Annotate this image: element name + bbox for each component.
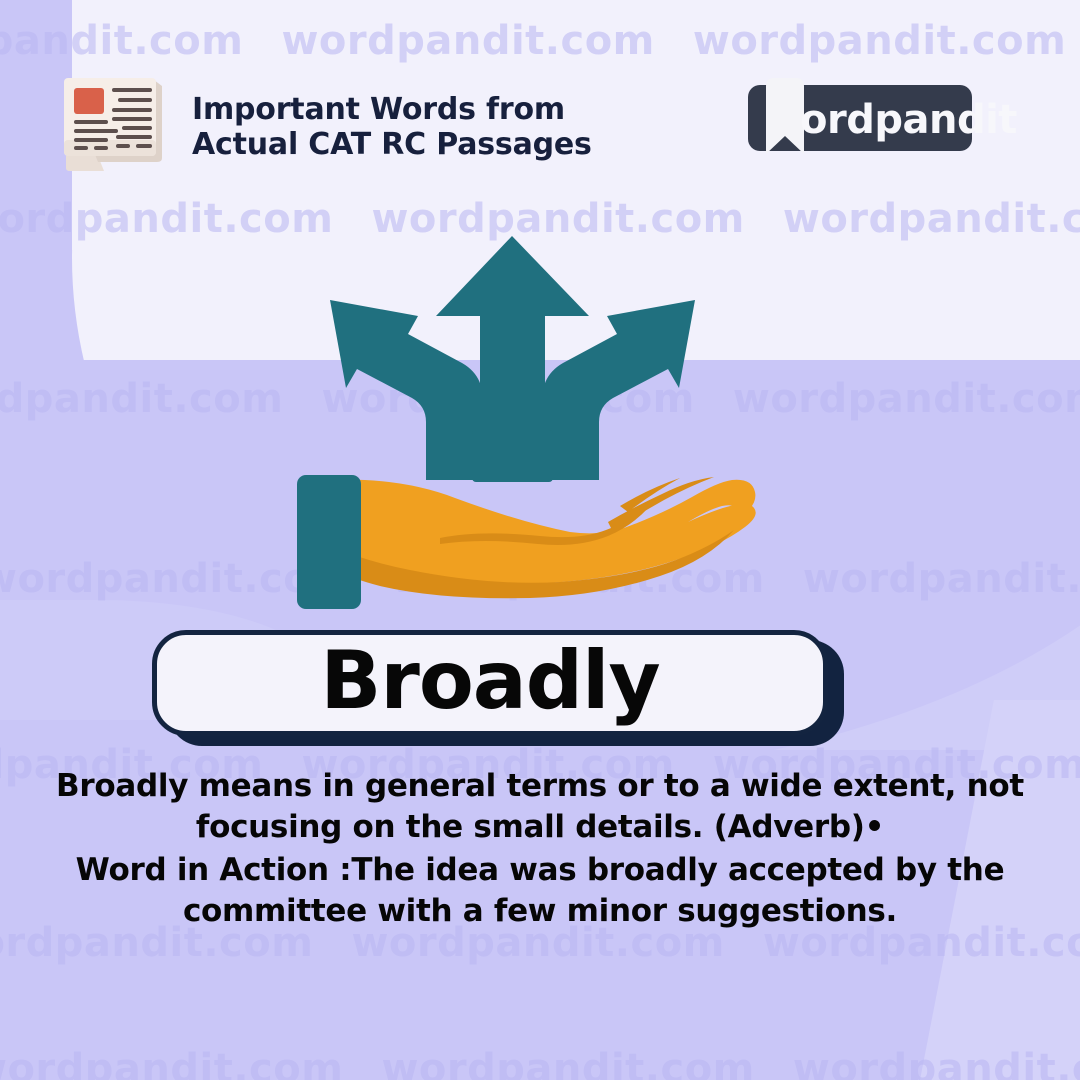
page-title-line-2: Actual CAT RC Passages	[192, 127, 592, 162]
word-card: wordpandit.comwordpandit.comwordpandit.c…	[0, 0, 1080, 1080]
hand-holding-three-way-arrow	[240, 230, 800, 630]
word-term: Broadly	[320, 641, 659, 721]
sleeve-cuff-icon	[297, 475, 361, 609]
word-usage-example: Word in Action :The idea was broadly acc…	[52, 850, 1028, 932]
page-title: Important Words from Actual CAT RC Passa…	[192, 92, 592, 162]
word-box[interactable]: Broadly	[152, 630, 828, 736]
page-title-line-1: Important Words from	[192, 92, 592, 127]
three-way-arrow-icon	[330, 236, 695, 482]
newspaper-icon	[58, 72, 176, 172]
logo-text: ordpandit	[800, 97, 1017, 143]
card-header: Important Words from Actual CAT RC Passa…	[0, 0, 1080, 190]
word-definition: Broadly means in general terms or to a w…	[40, 766, 1040, 848]
open-palm-hand-icon	[302, 477, 756, 598]
